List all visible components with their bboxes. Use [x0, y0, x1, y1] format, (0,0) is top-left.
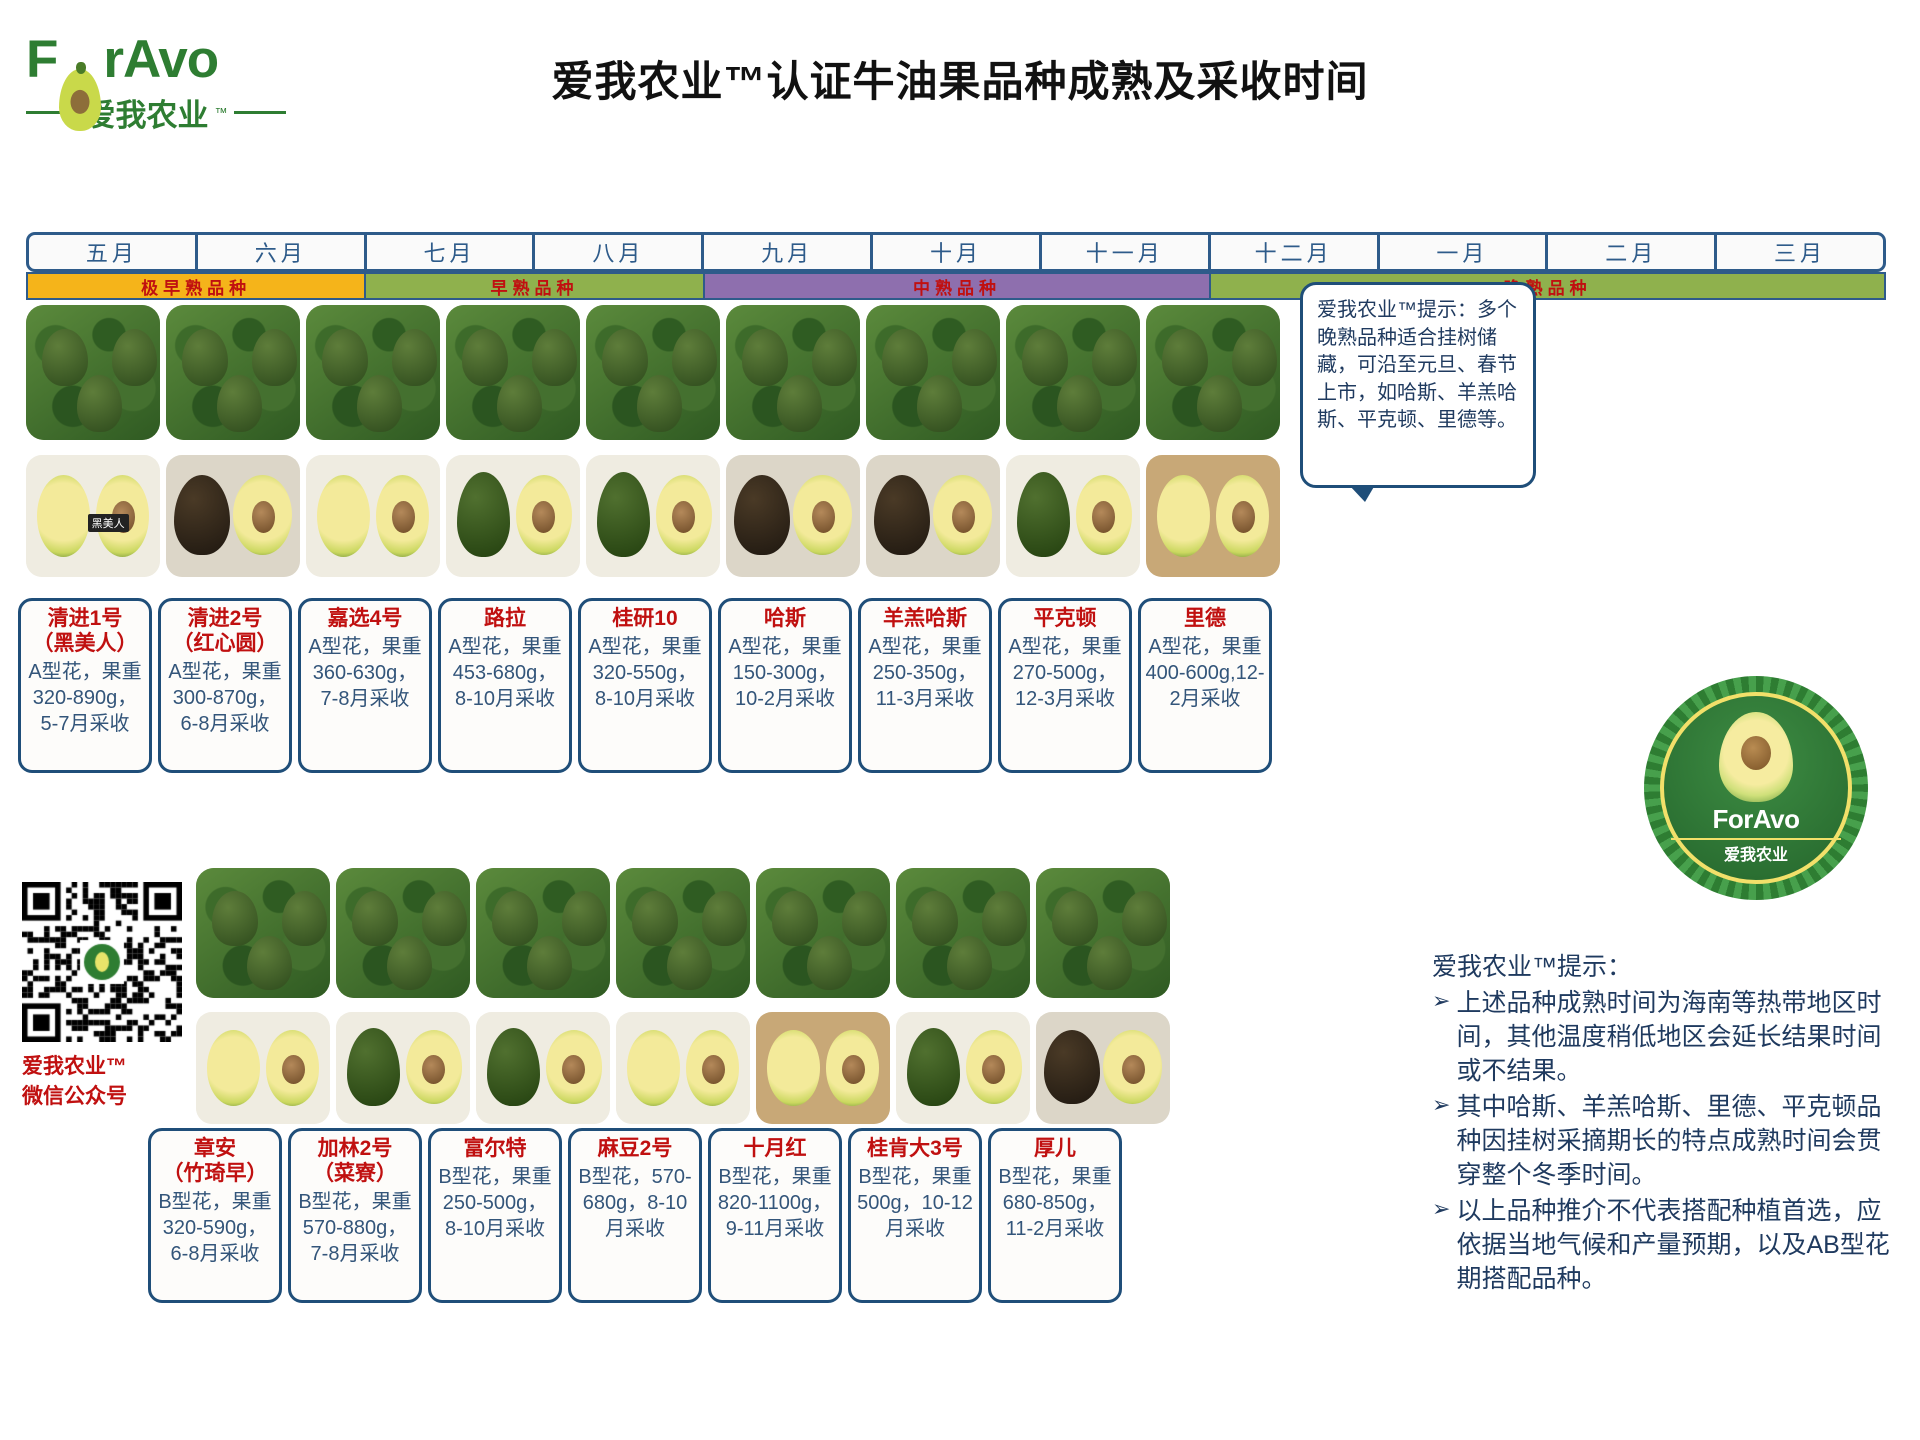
notes-list: ➢上述品种成熟时间为海南等热带地区时间，其他温度稍低地区会延长结果时间或不结果。…	[1432, 986, 1902, 1296]
avocado-flesh-half	[207, 1030, 261, 1106]
avocado-fruit-shape	[842, 891, 888, 946]
page-title: 爱我农业™认证牛油果品种成熟及采收时间	[0, 48, 1920, 109]
avocado-cut-photo	[586, 455, 720, 577]
variety-name: 厚儿	[1034, 1137, 1076, 1162]
variety-card[interactable]: 章安（竹琦早）B型花，果重320-590g，6-8月采收	[148, 1128, 282, 1303]
notes-heading: 爱我农业™提示：	[1432, 950, 1902, 984]
avocado-fruit-shape	[1162, 329, 1208, 386]
variety-name: 清进2号	[188, 607, 263, 632]
month-cell: 十一月	[1039, 232, 1208, 272]
avocado-tree-photo	[306, 305, 440, 440]
variety-name: 路拉	[484, 607, 526, 632]
variety-description: A型花，果重250-350g，11-3月采收	[865, 634, 985, 712]
note-item: ➢上述品种成熟时间为海南等热带地区时间，其他温度稍低地区会延长结果时间或不结果。	[1432, 986, 1902, 1088]
avocado-cut-photo	[726, 455, 860, 577]
avocado-fruit-shape	[282, 891, 328, 946]
avocado-tree-photo	[726, 305, 860, 440]
avocado-cut-photo	[476, 1012, 610, 1124]
cut-photo-row-a: 黑美人	[26, 455, 1286, 577]
month-cell: 十二月	[1208, 232, 1377, 272]
variety-card[interactable]: 清进1号（黑美人）A型花，果重320-890g，5-7月采收	[18, 598, 152, 773]
variety-description: A型花，果重453-680g，8-10月采收	[445, 634, 565, 712]
avocado-fruit-shape	[912, 891, 958, 946]
avocado-pit	[1232, 501, 1255, 533]
avocado-fruit-shape	[702, 891, 748, 946]
variety-description: A型花，果重270-500g，12-3月采收	[1005, 634, 1125, 712]
avocado-cut-photo	[196, 1012, 330, 1124]
avocado-tree-photo	[1006, 305, 1140, 440]
avocado-pit	[532, 501, 555, 533]
avocado-pit	[282, 1055, 305, 1084]
variety-name: 十月红	[744, 1137, 807, 1162]
avocado-flesh-half	[627, 1030, 681, 1106]
avocado-fruit-shape	[252, 329, 298, 386]
variety-description: B型花，果重250-500g，8-10月采收	[435, 1164, 555, 1242]
month-cell: 五月	[26, 232, 195, 272]
tree-photo-row-a	[26, 305, 1286, 440]
variety-description: A型花，果重320-550g，8-10月采收	[585, 634, 705, 712]
cut-photo-row-b	[196, 1012, 1176, 1124]
variety-name: 清进1号	[48, 607, 123, 632]
variety-alias: （红心圆）	[173, 632, 278, 657]
avocado-cut-photo	[1146, 455, 1280, 577]
variety-name: 嘉选4号	[328, 607, 403, 632]
avocado-fruit-shape	[42, 329, 88, 386]
qr-caption-line1: 爱我农业™	[22, 1050, 182, 1080]
avocado-fruit-shape	[392, 329, 438, 386]
arrow-bullet-icon: ➢	[1432, 1090, 1450, 1121]
avocado-fruit-shape	[772, 891, 818, 946]
avocado-fruit-shape	[422, 891, 468, 946]
avocado-fruit-shape	[1232, 329, 1278, 386]
avocado-fruit-shape	[182, 329, 228, 386]
maturity-band: 极早熟品种	[26, 272, 364, 300]
variety-alias: （黑美人）	[33, 632, 138, 657]
month-cell: 八月	[532, 232, 701, 272]
avocado-cut-photo	[616, 1012, 750, 1124]
variety-card[interactable]: 清进2号（红心圆）A型花，果重300-870g，6-8月采收	[158, 598, 292, 773]
bottom-notes: 爱我农业™提示： ➢上述品种成熟时间为海南等热带地区时间，其他温度稍低地区会延长…	[1432, 950, 1902, 1296]
variety-name: 桂肯大3号	[867, 1137, 963, 1162]
seal-cn-text: 爱我农业	[1724, 841, 1788, 865]
variety-description: B型花，果重320-590g，6-8月采收	[155, 1189, 275, 1267]
avocado-pit	[952, 501, 975, 533]
variety-card[interactable]: 十月红B型花，果重820-1100g，9-11月采收	[708, 1128, 842, 1303]
avocado-pit	[1092, 501, 1115, 533]
variety-description: B型花，570-680g，8-10月采收	[575, 1164, 695, 1242]
variety-name: 加林2号	[318, 1137, 393, 1162]
variety-name: 里德	[1184, 607, 1226, 632]
avocado-cut-photo	[866, 455, 1000, 577]
month-cell: 二月	[1545, 232, 1714, 272]
avocado-fruit-shape	[632, 891, 678, 946]
photo-inline-label: 黑美人	[88, 514, 129, 532]
avocado-tree-photo	[26, 305, 160, 440]
avocado-tree-photo	[1036, 868, 1170, 998]
variety-name: 羊羔哈斯	[883, 607, 967, 632]
variety-card[interactable]: 桂肯大3号B型花，果重500g，10-12月采收	[848, 1128, 982, 1303]
variety-description: A型花，果重320-890g，5-7月采收	[25, 659, 145, 737]
avocado-fruit-shape	[492, 891, 538, 946]
variety-card[interactable]: 加林2号（菜寮）B型花，果重570-880g，7-8月采收	[288, 1128, 422, 1303]
avocado-tree-photo	[866, 305, 1000, 440]
note-text: 上述品种成熟时间为海南等热带地区时间，其他温度稍低地区会延长结果时间或不结果。	[1456, 986, 1902, 1088]
avocado-fruit-shape	[882, 329, 928, 386]
avocado-pit	[392, 501, 415, 533]
avocado-pit	[702, 1055, 725, 1084]
month-cell: 七月	[364, 232, 533, 272]
avocado-fruit-shape	[602, 329, 648, 386]
seal-inner: ForAvo 爱我农业	[1660, 692, 1852, 884]
avocado-fruit-shape	[112, 329, 158, 386]
avocado-pit	[562, 1055, 585, 1084]
avocado-tree-photo	[1146, 305, 1280, 440]
avocado-tree-photo	[336, 868, 470, 998]
wechat-qr-block: 爱我农业™ 微信公众号	[22, 882, 182, 1110]
arrow-bullet-icon: ➢	[1432, 986, 1450, 1017]
variety-card[interactable]: 路拉A型花，果重453-680g，8-10月采收	[438, 598, 572, 773]
avocado-tree-photo	[166, 305, 300, 440]
avocado-tree-photo	[476, 868, 610, 998]
avocado-fruit-shape	[532, 329, 578, 386]
avocado-cut-photo	[1036, 1012, 1170, 1124]
avocado-cut-photo	[896, 1012, 1030, 1124]
avocado-fruit-shape	[1022, 329, 1068, 386]
avocado-fruit-shape	[1052, 891, 1098, 946]
variety-description: A型花，果重360-630g，7-8月采收	[305, 634, 425, 712]
variety-description: B型花，果重570-880g，7-8月采收	[295, 1189, 415, 1267]
variety-description: B型花，果重500g，10-12月采收	[855, 1164, 975, 1242]
variety-description: A型花，果重400-600g,12-2月采收	[1145, 634, 1265, 712]
avocado-fruit-shape	[952, 329, 998, 386]
arrow-bullet-icon: ➢	[1432, 1194, 1450, 1225]
avocado-pit	[422, 1055, 445, 1084]
avocado-pit	[672, 501, 695, 533]
avocado-pit	[842, 1055, 865, 1084]
variety-name: 富尔特	[464, 1137, 527, 1162]
avocado-pit	[982, 1055, 1005, 1084]
variety-name: 哈斯	[764, 607, 806, 632]
month-cell: 十月	[870, 232, 1039, 272]
avocado-cut-photo	[446, 455, 580, 577]
variety-name: 桂研10	[612, 607, 677, 632]
variety-card[interactable]: 羊羔哈斯A型花，果重250-350g，11-3月采收	[858, 598, 992, 773]
note-item: ➢其中哈斯、羊羔哈斯、里德、平克顿品种因挂树采摘期长的特点成熟时间会贯穿整个冬季…	[1432, 1090, 1902, 1192]
variety-alias: （竹琦早）	[163, 1162, 268, 1187]
avocado-tree-photo	[756, 868, 890, 998]
variety-card[interactable]: 厚儿B型花，果重680-850g，11-2月采收	[988, 1128, 1122, 1303]
variety-description: A型花，果重300-870g，6-8月采收	[165, 659, 285, 737]
variety-name: 平克顿	[1034, 607, 1097, 632]
avocado-tree-photo	[586, 305, 720, 440]
avocado-fruit-shape	[982, 891, 1028, 946]
avocado-tree-photo	[196, 868, 330, 998]
tip-callout-top: 爱我农业™提示：多个晚熟品种适合挂树储藏，可沿至元旦、春节上市，如哈斯、羊羔哈斯…	[1300, 282, 1536, 488]
variety-description: B型花，果重820-1100g，9-11月采收	[715, 1164, 835, 1242]
avocado-cut-photo: 黑美人	[26, 455, 160, 577]
month-cell: 一月	[1377, 232, 1546, 272]
poster-canvas: FrAvo 爱我农业™ 爱我农业™认证牛油果品种成熟及采收时间 五月六月七月八月…	[0, 0, 1920, 1440]
variety-card[interactable]: 平克顿A型花，果重270-500g，12-3月采收	[998, 598, 1132, 773]
avocado-flesh-half	[767, 1030, 821, 1106]
avocado-pit	[252, 501, 275, 533]
variety-description: A型花，果重150-300g，10-2月采收	[725, 634, 845, 712]
avocado-fruit-shape	[352, 891, 398, 946]
note-text: 其中哈斯、羊羔哈斯、里德、平克顿品种因挂树采摘期长的特点成熟时间会贯穿整个冬季时…	[1456, 1090, 1902, 1192]
variety-card[interactable]: 哈斯A型花，果重150-300g，10-2月采收	[718, 598, 852, 773]
tree-photo-row-b	[196, 868, 1176, 998]
avocado-cut-photo	[306, 455, 440, 577]
month-timeline: 五月六月七月八月九月十月十一月十二月一月二月三月	[26, 232, 1886, 272]
avocado-fruit-shape	[1122, 891, 1168, 946]
qr-code[interactable]	[22, 882, 182, 1042]
note-item: ➢以上品种推介不代表搭配种植首选，应依据当地气候和产量预期，以及AB型花期搭配品…	[1432, 1194, 1902, 1296]
avocado-fruit-shape	[562, 891, 608, 946]
variety-card-row-b: 章安（竹琦早）B型花，果重320-590g，6-8月采收加林2号（菜寮）B型花，…	[148, 1128, 1128, 1303]
seal-divider	[1671, 838, 1840, 840]
avocado-pit	[1122, 1055, 1145, 1084]
avocado-fruit-shape	[322, 329, 368, 386]
variety-alias: （菜寮）	[313, 1162, 397, 1187]
month-cell: 九月	[701, 232, 870, 272]
variety-card-row-a: 清进1号（黑美人）A型花，果重320-890g，5-7月采收清进2号（红心圆）A…	[18, 598, 1278, 773]
variety-card[interactable]: 富尔特B型花，果重250-500g，8-10月采收	[428, 1128, 562, 1303]
logo-divider-right	[234, 111, 287, 114]
avocado-tree-photo	[896, 868, 1030, 998]
avocado-cut-photo	[756, 1012, 890, 1124]
avocado-pit	[812, 501, 835, 533]
avocado-fruit-shape	[462, 329, 508, 386]
variety-card[interactable]: 嘉选4号A型花，果重360-630g，7-8月采收	[298, 598, 432, 773]
variety-name: 麻豆2号	[598, 1137, 673, 1162]
month-cell: 六月	[195, 232, 364, 272]
foravo-seal-logo: ForAvo 爱我农业	[1644, 676, 1868, 900]
avocado-fruit-shape	[742, 329, 788, 386]
maturity-band: 早熟品种	[364, 272, 702, 300]
maturity-band-row: 极早熟品种早熟品种中熟品种晚熟品种	[26, 272, 1886, 300]
seal-wordmark: ForAvo	[1712, 804, 1799, 835]
variety-card[interactable]: 麻豆2号B型花，570-680g，8-10月采收	[568, 1128, 702, 1303]
avocado-tree-photo	[616, 868, 750, 998]
note-text: 以上品种推介不代表搭配种植首选，应依据当地气候和产量预期，以及AB型花期搭配品种…	[1456, 1194, 1902, 1296]
seal-avocado-icon	[1719, 712, 1793, 802]
avocado-fruit-shape	[672, 329, 718, 386]
avocado-tree-photo	[446, 305, 580, 440]
avocado-cut-photo	[166, 455, 300, 577]
avocado-cut-photo	[336, 1012, 470, 1124]
variety-name: 章安	[194, 1137, 236, 1162]
avocado-cut-photo	[1006, 455, 1140, 577]
avocado-fruit-shape	[212, 891, 258, 946]
month-cell: 三月	[1714, 232, 1886, 272]
variety-card[interactable]: 里德A型花，果重400-600g,12-2月采收	[1138, 598, 1272, 773]
avocado-fruit-shape	[812, 329, 858, 386]
qr-caption-line2: 微信公众号	[22, 1080, 182, 1110]
avocado-fruit-shape	[1092, 329, 1138, 386]
variety-card[interactable]: 桂研10A型花，果重320-550g，8-10月采收	[578, 598, 712, 773]
maturity-band: 中熟品种	[703, 272, 1210, 300]
variety-description: B型花，果重680-850g，11-2月采收	[995, 1164, 1115, 1242]
